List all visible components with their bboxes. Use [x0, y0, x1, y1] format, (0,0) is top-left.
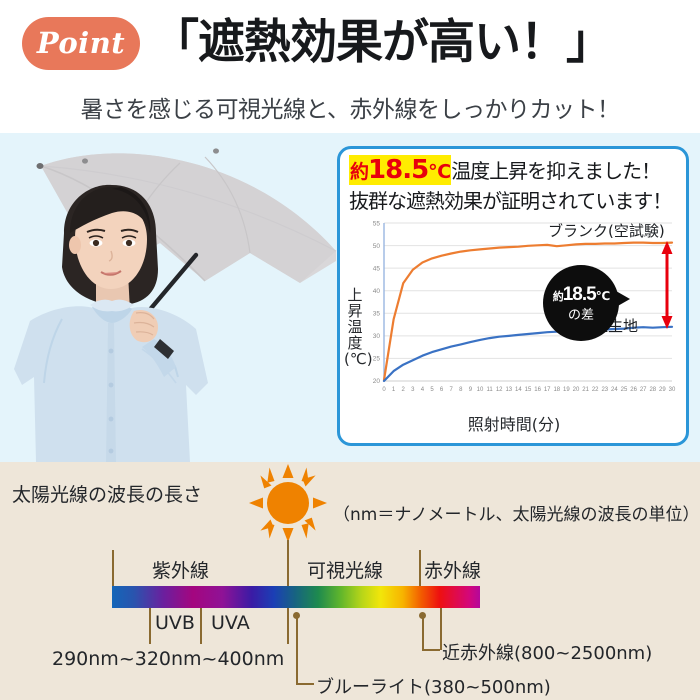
badge-unit: ℃ [596, 289, 610, 303]
card-subline: 抜群な遮熱効果が証明されています！ [349, 185, 685, 214]
svg-text:45: 45 [373, 266, 381, 273]
chart-area: 上昇温度(℃) 55 50 45 4 [342, 215, 686, 443]
near-ir-leader-horizontal [422, 649, 440, 651]
spectrum-section: 太陽光線の波長の長さ （nm＝ナノメートル、太陽光線の波長の単位） [0, 462, 700, 700]
svg-text:19: 19 [563, 387, 570, 393]
svg-text:8: 8 [459, 387, 463, 393]
page-title: 「遮熱効果が高い！」 [152, 10, 692, 76]
series-blank-line [384, 243, 672, 381]
tick-290nm [149, 608, 151, 644]
callout-near-infrared: 近赤外線(800~2500nm) [442, 639, 652, 665]
badge-prefix: 約 [553, 291, 563, 303]
callout-blue-light: ブルーライト(380~500nm) [316, 673, 551, 699]
svg-text:15: 15 [525, 387, 532, 393]
svg-text:17: 17 [544, 387, 551, 393]
svg-text:10: 10 [477, 387, 484, 393]
svg-text:27: 27 [640, 387, 647, 393]
sun-icon [249, 464, 327, 542]
tick-400nm [287, 608, 289, 644]
svg-text:35: 35 [373, 311, 381, 318]
svg-text:25: 25 [621, 387, 628, 393]
model-photo [0, 133, 340, 462]
svg-text:13: 13 [505, 387, 512, 393]
blue-light-leader-vertical [296, 616, 298, 684]
svg-text:16: 16 [534, 387, 541, 393]
temperature-highlight: 約18.5℃ [349, 155, 451, 185]
tick-ir-start [419, 550, 421, 590]
chart-y-axis-label: 上昇温度(℃) [344, 287, 366, 367]
tick-320nm [200, 608, 202, 644]
tick-uv-start [112, 550, 114, 590]
region-label-infrared: 赤外線 [424, 556, 481, 583]
infographic-page: Point 「遮熱効果が高い！」 暑さを感じる可視光線と、赤外線をしっかりカット… [0, 0, 700, 700]
heat-test-card: 約18.5℃温度上昇を抑えました！ 抜群な遮熱効果が証明されています！ 上昇温度… [337, 146, 689, 446]
svg-text:2: 2 [402, 387, 406, 393]
uv-sub-label-uva: UVA [211, 612, 250, 634]
badge-value: 18.5 [563, 284, 596, 305]
point-badge: Point [22, 17, 140, 70]
svg-text:24: 24 [611, 387, 618, 393]
region-label-uv: 紫外線 [152, 556, 209, 583]
svg-text:3: 3 [411, 387, 415, 393]
svg-text:9: 9 [469, 387, 473, 393]
svg-text:20: 20 [573, 387, 580, 393]
point-badge-label: Point [22, 17, 140, 70]
badge-tail-icon [616, 291, 630, 307]
card-headline-row: 約18.5℃温度上昇を抑えました！ [349, 155, 685, 185]
svg-text:40: 40 [373, 288, 381, 295]
svg-text:20: 20 [373, 378, 381, 385]
temperature-line-chart: 55 50 45 40 35 30 25 20 012 345 67 [342, 215, 686, 411]
svg-text:30: 30 [669, 387, 676, 393]
svg-text:29: 29 [659, 387, 666, 393]
svg-text:30: 30 [373, 333, 381, 340]
svg-text:22: 22 [592, 387, 599, 393]
chart-x-tick-labels: 012 345 678 91011 121314 151617 181920 2… [382, 387, 676, 393]
nm-scale-label: 290nm~320nm~400nm [52, 648, 284, 670]
highlight-unit: ℃ [428, 161, 450, 183]
chart-x-axis-label: 照射時間(分) [342, 411, 686, 435]
svg-text:5: 5 [430, 387, 434, 393]
region-label-visible: 可視光線 [307, 556, 383, 583]
svg-text:12: 12 [496, 387, 503, 393]
svg-text:50: 50 [373, 243, 381, 250]
svg-text:21: 21 [582, 387, 589, 393]
card-headline-rest: 温度上昇を抑えました！ [451, 159, 660, 183]
header-section: Point 「遮熱効果が高い！」 暑さを感じる可視光線と、赤外線をしっかりカット… [0, 0, 700, 133]
highlight-prefix: 約 [350, 161, 368, 183]
svg-text:28: 28 [649, 387, 656, 393]
chart-y-tick-labels: 55 50 45 40 35 30 25 20 [373, 221, 381, 386]
spectrum-title: 太陽光線の波長の長さ [12, 480, 202, 507]
spectrum-note: （nm＝ナノメートル、太陽光線の波長の単位） [333, 500, 699, 525]
series-label-blank: ブランク(空試験) [548, 220, 665, 241]
svg-text:6: 6 [440, 387, 444, 393]
svg-text:0: 0 [382, 387, 386, 393]
difference-arrow [662, 241, 673, 329]
svg-text:1: 1 [392, 387, 396, 393]
spectrum-gradient-bar [112, 586, 480, 608]
highlight-value: 18.5 [368, 155, 428, 185]
near-ir-leader-vertical [422, 616, 424, 650]
model-photo-illustration [0, 133, 340, 462]
svg-text:55: 55 [373, 221, 381, 228]
svg-text:26: 26 [630, 387, 637, 393]
svg-text:23: 23 [601, 387, 608, 393]
svg-text:25: 25 [373, 356, 381, 363]
uv-sub-label-uvb: UVB [155, 612, 195, 634]
page-subtitle: 暑さを感じる可視光線と、赤外線をしっかりカット！ [0, 90, 700, 124]
blue-light-leader-horizontal [296, 683, 314, 685]
svg-text:11: 11 [486, 387, 493, 393]
difference-badge-line2: の差 [543, 307, 619, 323]
svg-text:18: 18 [553, 387, 560, 393]
difference-badge-line1: 約18.5℃ [543, 265, 619, 307]
svg-text:7: 7 [450, 387, 454, 393]
difference-badge: 約18.5℃ の差 [543, 265, 619, 341]
tick-visible-start [287, 550, 289, 590]
svg-text:14: 14 [515, 387, 522, 393]
svg-text:4: 4 [421, 387, 425, 393]
